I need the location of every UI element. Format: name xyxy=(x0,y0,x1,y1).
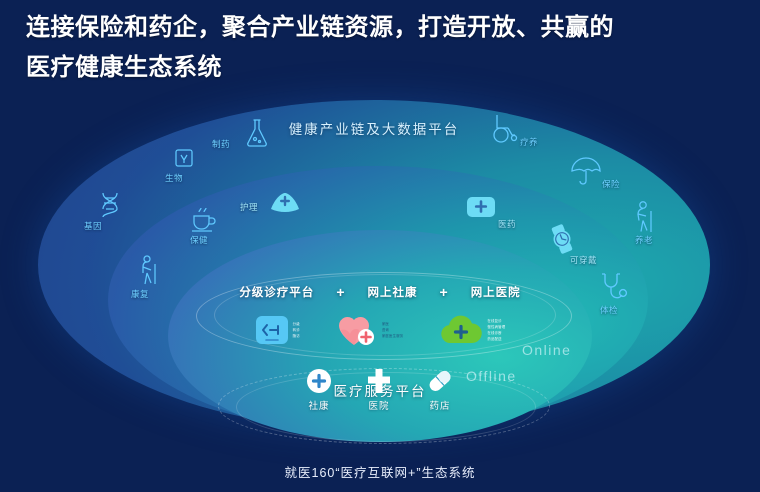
satellite-label-liaoyang: 疗养 xyxy=(520,136,538,148)
core-bullets-online-hospital: 在线复诊 慢性病管理 在线诊断 药品配送 xyxy=(487,319,505,341)
satellite-node-baoxian[interactable]: 保险 xyxy=(570,156,602,186)
flask-icon xyxy=(240,116,274,150)
offline-item-shekang[interactable]: 社康 xyxy=(306,368,332,412)
plus-separator-2: + xyxy=(440,284,449,300)
dna-icon xyxy=(96,190,124,220)
satellite-label-jiyin: 基因 xyxy=(84,220,102,232)
offline-items-row: 社康 医院 药店 xyxy=(0,368,760,432)
core-heading-tiered-care: 分级诊疗平台 xyxy=(239,284,314,300)
core-heading-online-hospital: 网上医院 xyxy=(471,284,521,300)
elderly-cane-icon xyxy=(632,200,658,234)
umbrella-icon xyxy=(570,156,602,186)
core-headings-row: 分级诊疗平台 + 网上社康 + 网上医院 xyxy=(0,284,760,300)
plus-separator-1: + xyxy=(336,284,345,300)
satellite-label-baojian: 保健 xyxy=(190,234,208,246)
core-item-online-community-health[interactable]: 家医 咨询 家庭医生服务 xyxy=(336,313,404,347)
elderly-walker-icon xyxy=(136,254,162,288)
core-item-online-hospital[interactable]: 在线复诊 慢性病管理 在线诊断 药品配送 xyxy=(439,314,505,346)
satellite-label-zhiyao: 制药 xyxy=(212,138,230,150)
satellite-node-zhiyao[interactable]: 制药 xyxy=(240,116,274,150)
satellite-node-kechuandai[interactable]: 可穿戴 xyxy=(548,224,576,254)
page-title: 连接保险和药企，聚合产业链资源，打造开放、共赢的 医疗健康生态系统 xyxy=(26,8,738,88)
medicine-box-icon xyxy=(466,196,496,218)
chat-console-icon xyxy=(255,315,289,345)
pill-capsule-icon xyxy=(426,368,454,394)
heart-cross-icon xyxy=(336,313,378,347)
diagram-caption: 就医160“医疗互联网+”生态系统 xyxy=(0,462,760,481)
ecosystem-diagram: 健康产业链及大数据平台 健康管理平台 医疗服务平台 制药 生物 xyxy=(0,96,760,456)
satellite-label-huli: 护理 xyxy=(240,201,258,213)
layer-label-outer: 健康产业链及大数据平台 xyxy=(38,118,710,138)
slide-canvas: 连接保险和药企，聚合产业链资源，打造开放、共赢的 医疗健康生态系统 健康产业链及… xyxy=(0,0,760,492)
cloud-cross-icon xyxy=(439,314,483,346)
core-bullets-online-community-health: 家医 咨询 家庭医生服务 xyxy=(382,322,404,338)
satellite-label-shengwu: 生物 xyxy=(165,172,183,184)
offline-label-yiyuan: 医院 xyxy=(368,398,389,412)
smartwatch-icon xyxy=(548,224,576,254)
core-items-row: 分级 转诊 随访 家医 咨询 家庭医生服务 xyxy=(0,304,760,356)
core-item-tiered-care[interactable]: 分级 转诊 随访 xyxy=(255,315,300,345)
satellite-node-baojian[interactable]: 保健 xyxy=(188,206,218,234)
mode-label-online: Online xyxy=(522,342,571,358)
satellite-label-kechuandai: 可穿戴 xyxy=(570,254,597,266)
community-clinic-icon xyxy=(306,368,332,394)
nurse-cap-icon xyxy=(268,190,302,214)
satellite-node-huli[interactable]: 护理 xyxy=(268,190,302,214)
offline-item-yiyuan[interactable]: 医院 xyxy=(366,368,392,412)
microscope-icon xyxy=(170,146,198,174)
satellite-node-liaoyang[interactable]: 疗养 xyxy=(488,112,520,144)
hospital-cross-icon xyxy=(366,368,392,394)
satellite-label-yiyao: 医药 xyxy=(498,218,516,230)
offline-item-yaodian[interactable]: 药店 xyxy=(426,368,454,412)
satellite-node-jiyin[interactable]: 基因 xyxy=(96,190,124,220)
offline-label-shekang: 社康 xyxy=(308,398,329,412)
satellite-node-yanglao[interactable]: 养老 xyxy=(632,200,658,234)
core-heading-online-community-health: 网上社康 xyxy=(368,284,418,300)
teacup-icon xyxy=(188,206,218,234)
core-bullets-tiered-care: 分级 转诊 随访 xyxy=(293,322,300,338)
satellite-node-kangfu[interactable]: 康复 xyxy=(136,254,162,288)
satellite-node-yiyao[interactable]: 医药 xyxy=(466,196,496,218)
satellite-label-baoxian: 保险 xyxy=(602,178,620,190)
wheelchair-icon xyxy=(488,112,520,144)
satellite-node-shengwu[interactable]: 生物 xyxy=(170,146,198,174)
satellite-label-yanglao: 养老 xyxy=(635,234,653,246)
offline-label-yaodian: 药店 xyxy=(429,398,450,412)
